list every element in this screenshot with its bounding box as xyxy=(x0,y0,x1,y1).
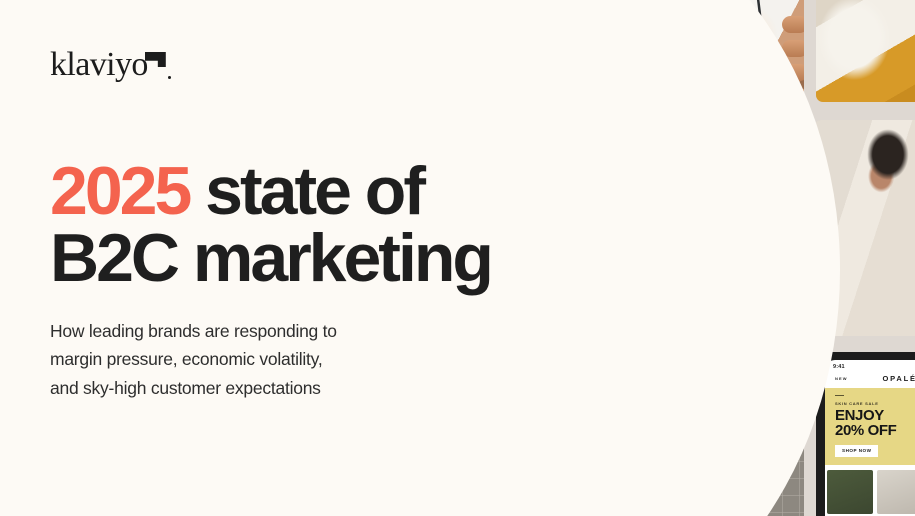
app-promo-headline-2: 20% OFF xyxy=(835,423,915,438)
photo-collage: 9:41▮ xyxy=(540,0,915,516)
app-promo-banner: SKIN CARE SALE ENJOY 20% OFF SHOP NOW xyxy=(825,388,915,465)
phone-body: 9:41 NEW OPALÉA SKIN CARE SALE ENJOY 20%… xyxy=(816,352,915,516)
report-cover: 9:41▮ xyxy=(0,0,915,516)
bedding-image xyxy=(816,0,915,102)
headline-year: 2025 xyxy=(50,153,189,229)
app-nav-new[interactable]: NEW xyxy=(835,376,848,381)
collage-photo-mobile-app: 9:41 NEW OPALÉA SKIN CARE SALE ENJOY 20%… xyxy=(816,352,915,516)
app-divider xyxy=(835,395,844,396)
klaviyo-logo[interactable]: klaviyo xyxy=(50,48,171,82)
headline-rest: state of xyxy=(189,153,423,229)
app-product-tiles xyxy=(825,465,915,514)
collage-photo-bedding xyxy=(816,0,915,102)
app-product-tile[interactable] xyxy=(877,470,915,514)
subtitle-line-3: and sky-high customer expectations xyxy=(50,374,450,402)
app-promo-kicker: SKIN CARE SALE xyxy=(835,401,915,406)
app-brand-name: OPALÉA xyxy=(883,374,915,383)
app-promo-headline-1: ENJOY xyxy=(835,408,915,423)
subtitle-line-1: How leading brands are responding to xyxy=(50,317,450,345)
page-title: 2025 state of B2C marketing xyxy=(50,158,550,291)
app-screen: 9:41 NEW OPALÉA SKIN CARE SALE ENJOY 20%… xyxy=(825,360,915,516)
finger xyxy=(782,16,804,33)
app-shop-now-button[interactable]: SHOP NOW xyxy=(835,445,878,457)
page-subtitle: How leading brands are responding to mar… xyxy=(50,317,450,402)
subtitle-line-2: margin pressure, economic volatility, xyxy=(50,345,450,373)
headline-line-2: B2C marketing xyxy=(50,220,491,296)
app-product-tile[interactable] xyxy=(827,470,873,514)
flag-icon xyxy=(145,52,166,67)
registered-mark-icon xyxy=(168,76,171,79)
app-navbar: NEW OPALÉA xyxy=(825,370,915,388)
logo-wordmark: klaviyo xyxy=(50,48,148,82)
app-status-time: 9:41 xyxy=(825,360,915,370)
